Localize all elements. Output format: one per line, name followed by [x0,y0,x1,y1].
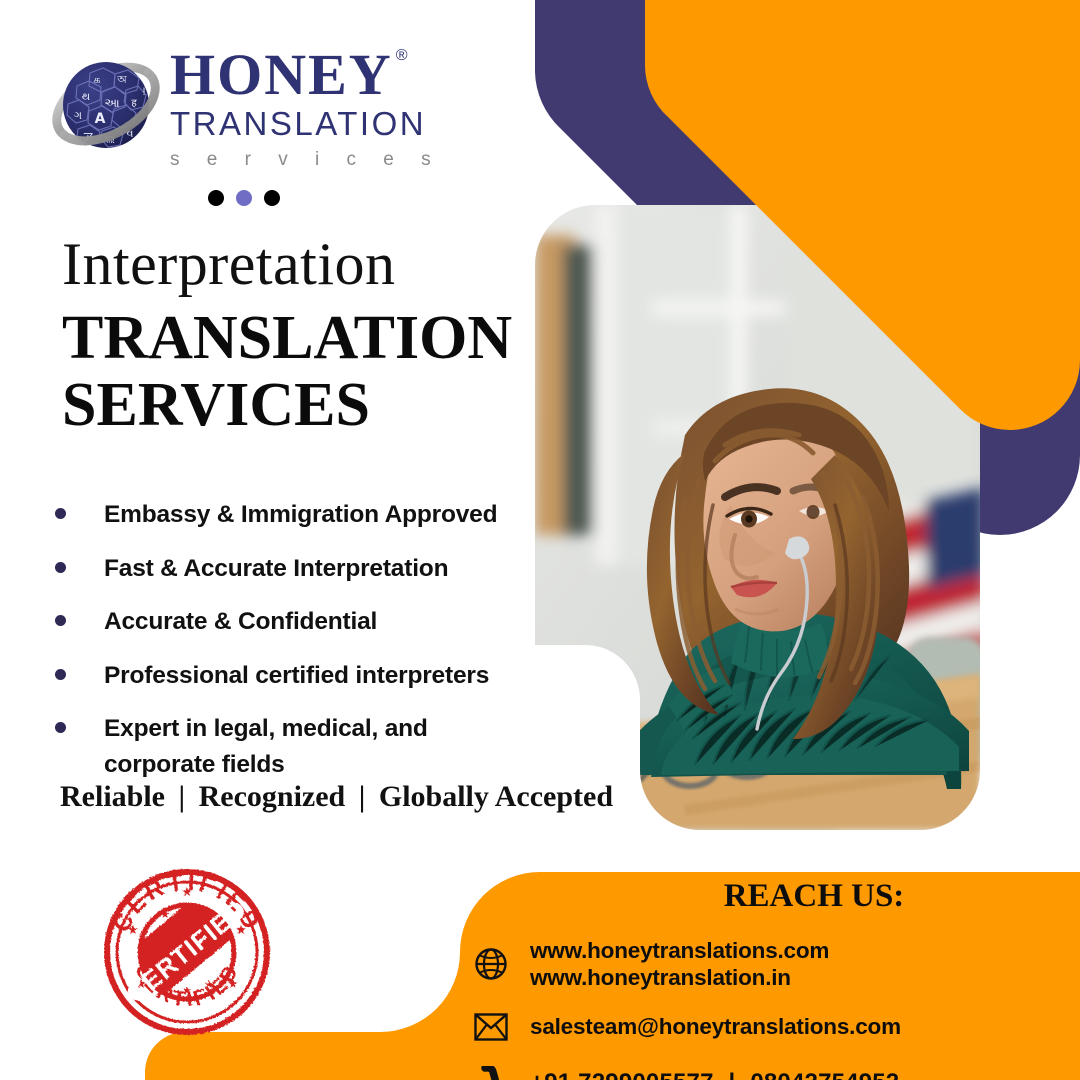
bullet-dot-icon [55,615,66,626]
headline-line-1: TRANSLATION [62,305,512,372]
list-item-label: Accurate & Confidential [104,604,377,640]
certified-stamp-icon: CERTIFIED CERTIFIED ★★★ ★★ ★★★ ★★★ CERTI… [103,868,271,1036]
bullet-dot-icon [55,562,66,573]
headline-script: Interpretation [62,234,396,294]
svg-text:ᴉ: ᴉ [143,85,146,96]
bullet-dot-icon [55,722,66,733]
logo-name: HONEY [170,46,393,104]
website-link-2[interactable]: www.honeytranslation.in [530,964,829,991]
list-item: Professional certified interpreters [55,658,525,694]
globe-icon [470,943,512,985]
page-title: TRANSLATION SERVICES [62,305,512,439]
contact-heading: REACH US: [548,878,1080,915]
tagline-separator: | [173,780,192,813]
svg-text:થ: થ [82,90,90,103]
svg-text:આ: આ [104,96,119,110]
phone-separator: | [721,1069,744,1080]
logo-subtitle: TRANSLATION [170,106,442,143]
svg-text:★: ★ [127,922,139,937]
list-item-label: Embassy & Immigration Approved [104,497,497,533]
contact-row-phone[interactable]: +91 7299005577 | 08042754952 [470,1062,1080,1080]
list-item: Embassy & Immigration Approved [55,497,525,533]
website-link-1[interactable]: www.honeytranslations.com [530,937,829,964]
headline-line-2: SERVICES [62,372,512,439]
dot-1 [208,190,224,206]
list-item-label: Professional certified interpreters [104,658,489,694]
feature-list: Embassy & Immigration Approved Fast & Ac… [55,497,525,800]
language-globe-icon: க অ ᴉ થ આ ह ગ A ア ଲ વ [52,49,164,167]
list-item-label: Expert in legal, medical, and corporate … [104,711,464,782]
contact-block: REACH US: www.honeytranslations.com www.… [470,878,1080,1080]
brand-logo: க অ ᴉ થ આ ह ગ A ア ଲ વ HONEY ® TRANSLATIO… [52,46,442,171]
envelope-icon [470,1006,512,1048]
registered-trademark-icon: ® [396,48,408,64]
svg-text:ह: ह [131,98,137,109]
logo-wordmark: HONEY ® TRANSLATION s e r v i c e s [170,46,442,171]
svg-text:க: க [93,73,100,86]
svg-text:★: ★ [182,985,192,997]
tagline-part-3: Globally Accepted [379,780,613,813]
tagline-part-2: Recognized [199,780,346,813]
svg-text:ગ: ગ [74,109,82,122]
poster-canvas: க অ ᴉ થ આ ह ગ A ア ଲ વ HONEY ® TRANSLATIO… [0,0,1080,1080]
svg-text:★: ★ [204,979,214,991]
logo-tagline: s e r v i c e s [170,149,442,171]
dot-2 [236,190,252,206]
decorative-dots [208,190,280,206]
bullet-dot-icon [55,669,66,680]
trust-tagline: Reliable | Recognized | Globally Accepte… [60,780,613,814]
phone-number-1[interactable]: +91 7299005577 [530,1069,714,1080]
svg-text:★: ★ [227,976,239,991]
tagline-part-1: Reliable [60,780,165,813]
list-item: Expert in legal, medical, and corporate … [55,711,525,782]
email-address[interactable]: salesteam@honeytranslations.com [530,1013,901,1040]
svg-text:A: A [95,111,106,127]
dot-3 [264,190,280,206]
phone-icon [476,1062,518,1080]
bullet-dot-icon [55,508,66,519]
phone-number-2[interactable]: 08042754952 [750,1069,899,1080]
phone-numbers[interactable]: +91 7299005577 | 08042754952 [530,1068,899,1080]
list-item-label: Fast & Accurate Interpretation [104,551,448,587]
list-item: Accurate & Confidential [55,604,525,640]
svg-text:★: ★ [178,905,188,917]
contact-row-website[interactable]: www.honeytranslations.com www.honeytrans… [470,937,1080,992]
website-links[interactable]: www.honeytranslations.com www.honeytrans… [530,937,829,992]
contact-row-email[interactable]: salesteam@honeytranslations.com [470,1006,1080,1048]
tagline-separator: | [353,780,372,813]
svg-text:★: ★ [181,884,193,899]
svg-text:অ: অ [116,73,127,86]
list-item: Fast & Accurate Interpretation [55,551,525,587]
